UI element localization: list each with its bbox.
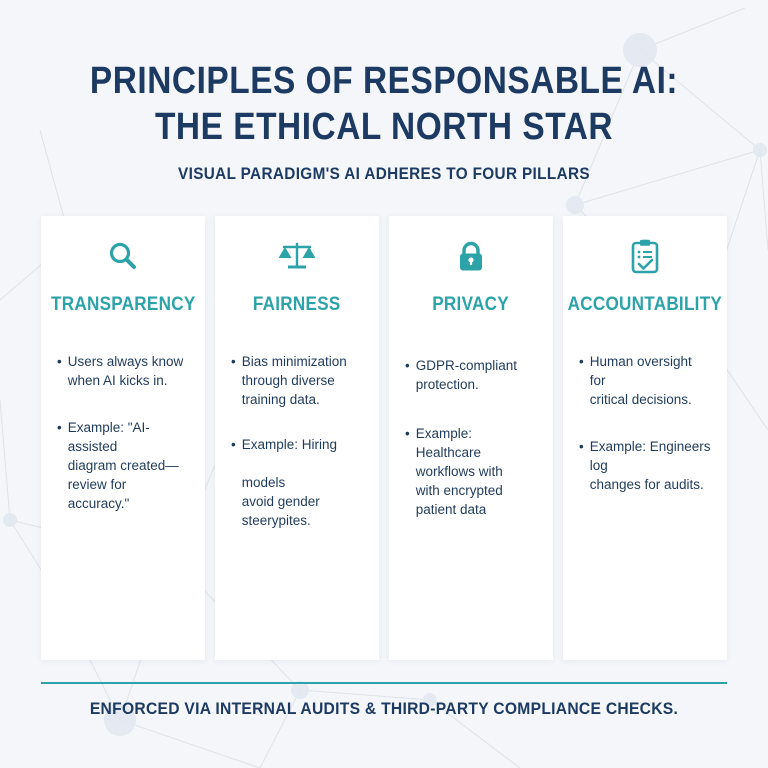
list-item: • Bias minimization through diverse trai… xyxy=(231,352,363,409)
clipboard-check-icon xyxy=(630,234,660,280)
list-item-text: Users always know when AI kicks in. xyxy=(68,352,184,390)
list-item: • Human oversight for critical decisions… xyxy=(579,352,711,409)
bullet-marker: • xyxy=(579,352,584,371)
pillar-title: ACCOUNTABILITY xyxy=(568,294,723,316)
pillar-bullet-list: • Users always know when AI kicks in. • … xyxy=(51,352,195,539)
bullet-marker: • xyxy=(57,418,62,437)
bullet-marker: • xyxy=(231,435,236,454)
pillar-card-transparency: TRANSPARENCY • Users always know when AI… xyxy=(41,216,205,660)
list-item: • Example: Hiring models avoid gender st… xyxy=(231,435,363,530)
list-item-text: GDPR-compliant protection. xyxy=(416,356,517,394)
header: PRINCIPLES OF RESPONSABLE AI: THE ETHICA… xyxy=(0,58,768,184)
pillar-bullet-list: • Human oversight for critical decisions… xyxy=(573,352,717,520)
bullet-marker: • xyxy=(405,424,410,443)
list-item: • GDPR-compliant protection. xyxy=(405,356,537,394)
pillar-card-privacy: PRIVACY • GDPR-compliant protection. • E… xyxy=(389,216,553,660)
pillar-bullet-list: • Bias minimization through diverse trai… xyxy=(225,352,369,556)
list-item-text: Example: Healthcare workflows with with … xyxy=(416,424,537,519)
list-item-text: Example: Engineers log changes for audit… xyxy=(590,437,711,494)
bullet-marker: • xyxy=(231,352,236,371)
list-item-text: Human oversight for critical decisions. xyxy=(590,352,711,409)
page-subtitle: VISUAL PARADIGM'S AI ADHERES TO FOUR PIL… xyxy=(38,164,729,184)
pillar-title: PRIVACY xyxy=(433,294,510,316)
bullet-marker: • xyxy=(579,437,584,456)
pillar-card-fairness: FAIRNESS • Bias minimization through div… xyxy=(215,216,379,660)
bullet-marker: • xyxy=(405,356,410,375)
pillar-card-list: TRANSPARENCY • Users always know when AI… xyxy=(41,216,727,660)
scales-icon xyxy=(279,234,315,280)
pillar-card-accountability: ACCOUNTABILITY • Human oversight for cri… xyxy=(563,216,727,660)
list-item: • Example: Healthcare workflows with wit… xyxy=(405,424,537,519)
list-item-text: Bias minimization through diverse traini… xyxy=(242,352,347,409)
footer-note: ENFORCED VIA INTERNAL AUDITS & THIRD-PAR… xyxy=(31,699,738,719)
pillar-title: TRANSPARENCY xyxy=(51,294,195,316)
page-title-line-2: THE ETHICAL NORTH STAR xyxy=(46,104,722,150)
page-title-line-1: PRINCIPLES OF RESPONSABLE AI: xyxy=(46,58,722,104)
list-item: • Example: "AI-assisted diagram created—… xyxy=(57,418,189,513)
list-item: • Example: Engineers log changes for aud… xyxy=(579,437,711,494)
list-item-text: Example: Hiring models avoid gender stee… xyxy=(242,435,337,530)
lock-icon xyxy=(456,234,486,280)
pillar-bullet-list: • GDPR-compliant protection. • Example: … xyxy=(399,352,543,545)
list-item-text: Example: "AI-assisted diagram created— r… xyxy=(68,418,189,513)
magnifier-icon xyxy=(106,234,140,280)
bullet-marker: • xyxy=(57,352,62,371)
pillar-title: FAIRNESS xyxy=(253,294,341,316)
footer-divider xyxy=(41,682,727,684)
list-item: • Users always know when AI kicks in. xyxy=(57,352,189,390)
